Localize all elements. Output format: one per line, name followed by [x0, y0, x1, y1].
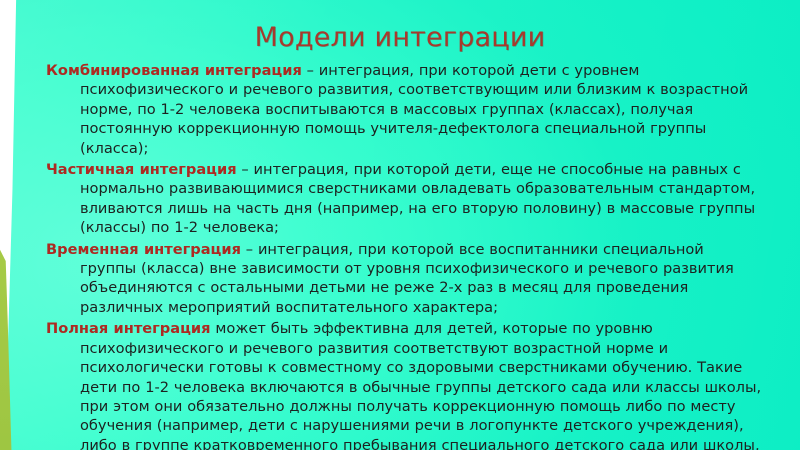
definition-term: Полная интеграция	[46, 320, 211, 337]
definition-term: Временная интеграция	[46, 241, 241, 258]
definition-paragraph: Частичная интеграция – интеграция, при к…	[46, 160, 762, 238]
slide-content: Модели интеграции Комбинированная интегр…	[0, 0, 800, 450]
definition-paragraph: Временная интеграция – интеграция, при к…	[46, 240, 762, 318]
definition-term: Комбинированная интеграция	[46, 62, 302, 79]
definition-paragraph: Полная интеграция может быть эффективна …	[46, 319, 762, 450]
definition-paragraph: Комбинированная интеграция – интеграция,…	[46, 61, 762, 158]
presentation-slide: Модели интеграции Комбинированная интегр…	[0, 0, 800, 450]
slide-title: Модели интеграции	[0, 22, 800, 53]
slide-body-text: Комбинированная интеграция – интеграция,…	[46, 61, 762, 450]
definition-term: Частичная интеграция	[46, 161, 237, 178]
definition-body: может быть эффективна для детей, которые…	[80, 320, 761, 450]
